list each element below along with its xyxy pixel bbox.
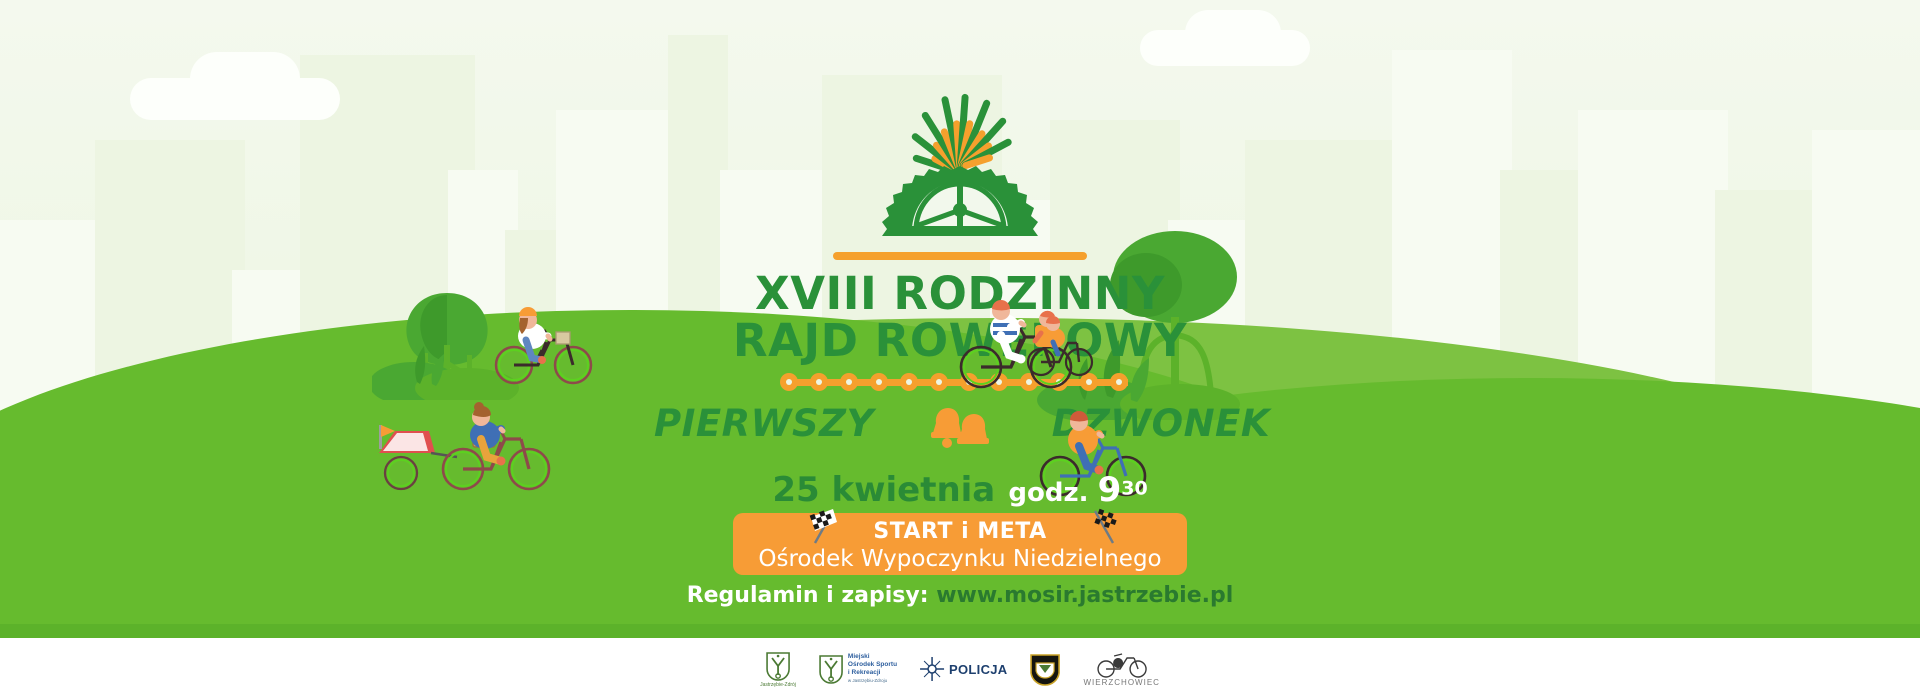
footer-partner-logos: Jastrzębie-Zdrój Miejski Ośrodek Sportu … [0,638,1920,700]
subtitle-left: PIERWSZY [654,402,874,445]
partner-logo-straz-miejska [1030,652,1062,686]
bicycle-icon [1094,652,1150,678]
bike-club-caption: WIERZCHOWIEC [1084,678,1160,687]
jastrzebie-caption: Jastrzębie-Zdrój [760,682,796,688]
logo-underline [833,252,1087,260]
straz-miejska-shield-icon [1030,652,1062,686]
mosir-line2: Ośrodek Sportu [848,661,897,669]
cyclist-woman-white [480,290,600,385]
cloud-right-top [1185,10,1281,56]
cloud-left-top [190,52,300,106]
bottom-green-bar [0,624,1920,638]
partner-logo-mosir: Miejski Ośrodek Sportu i Rekreacji w Jas… [818,653,897,685]
cyclist-with-trailer [365,395,565,500]
start-meta-label: START i META [873,519,1046,544]
partner-logo-policja: POLICJA [919,656,1007,682]
partner-logo-jastrzebie: Jastrzębie-Zdrój [760,651,796,688]
jastrzebie-crest-icon [765,651,791,681]
child-cyclist [1025,310,1095,380]
gear-icon [880,164,1040,246]
partner-logo-bike-club: WIERZCHOWIEC [1084,652,1160,687]
mosir-crest-icon [818,654,844,684]
bell-icon [920,402,1000,457]
time-label: godz. [1008,478,1088,508]
policja-caption: POLICJA [949,662,1007,677]
mosir-line4: w Jastrzębiu-Zdroju [848,677,897,685]
rules-label: Regulamin i zapisy: [687,583,929,608]
time-hour: 9 [1098,470,1122,510]
rules-line: Regulamin i zapisy: www.mosir.jastrzebie… [687,583,1234,608]
start-meta-box: START i META Ośrodek Wypoczynku Niedziel… [733,513,1187,575]
registration-url[interactable]: www.mosir.jastrzebie.pl [936,583,1233,608]
mosir-line1: Miejski [848,653,897,661]
time-minutes: 30 [1121,478,1147,500]
event-date-line: 25 kwietnia godz. 930 [772,470,1147,510]
sun-rays-icon [640,52,1280,170]
poster-subtitle: PIERWSZY DZWONEK [640,402,1280,446]
policja-star-icon [919,656,945,682]
event-date: 25 kwietnia [772,470,995,510]
event-poster-banner: XVIII RODZINNY RAJD ROWEROWY PIERWSZY [0,0,1920,700]
mosir-line3: i Rekreacji [848,669,897,677]
venue-name: Ośrodek Wypoczynku Niedzielnego [733,546,1187,572]
